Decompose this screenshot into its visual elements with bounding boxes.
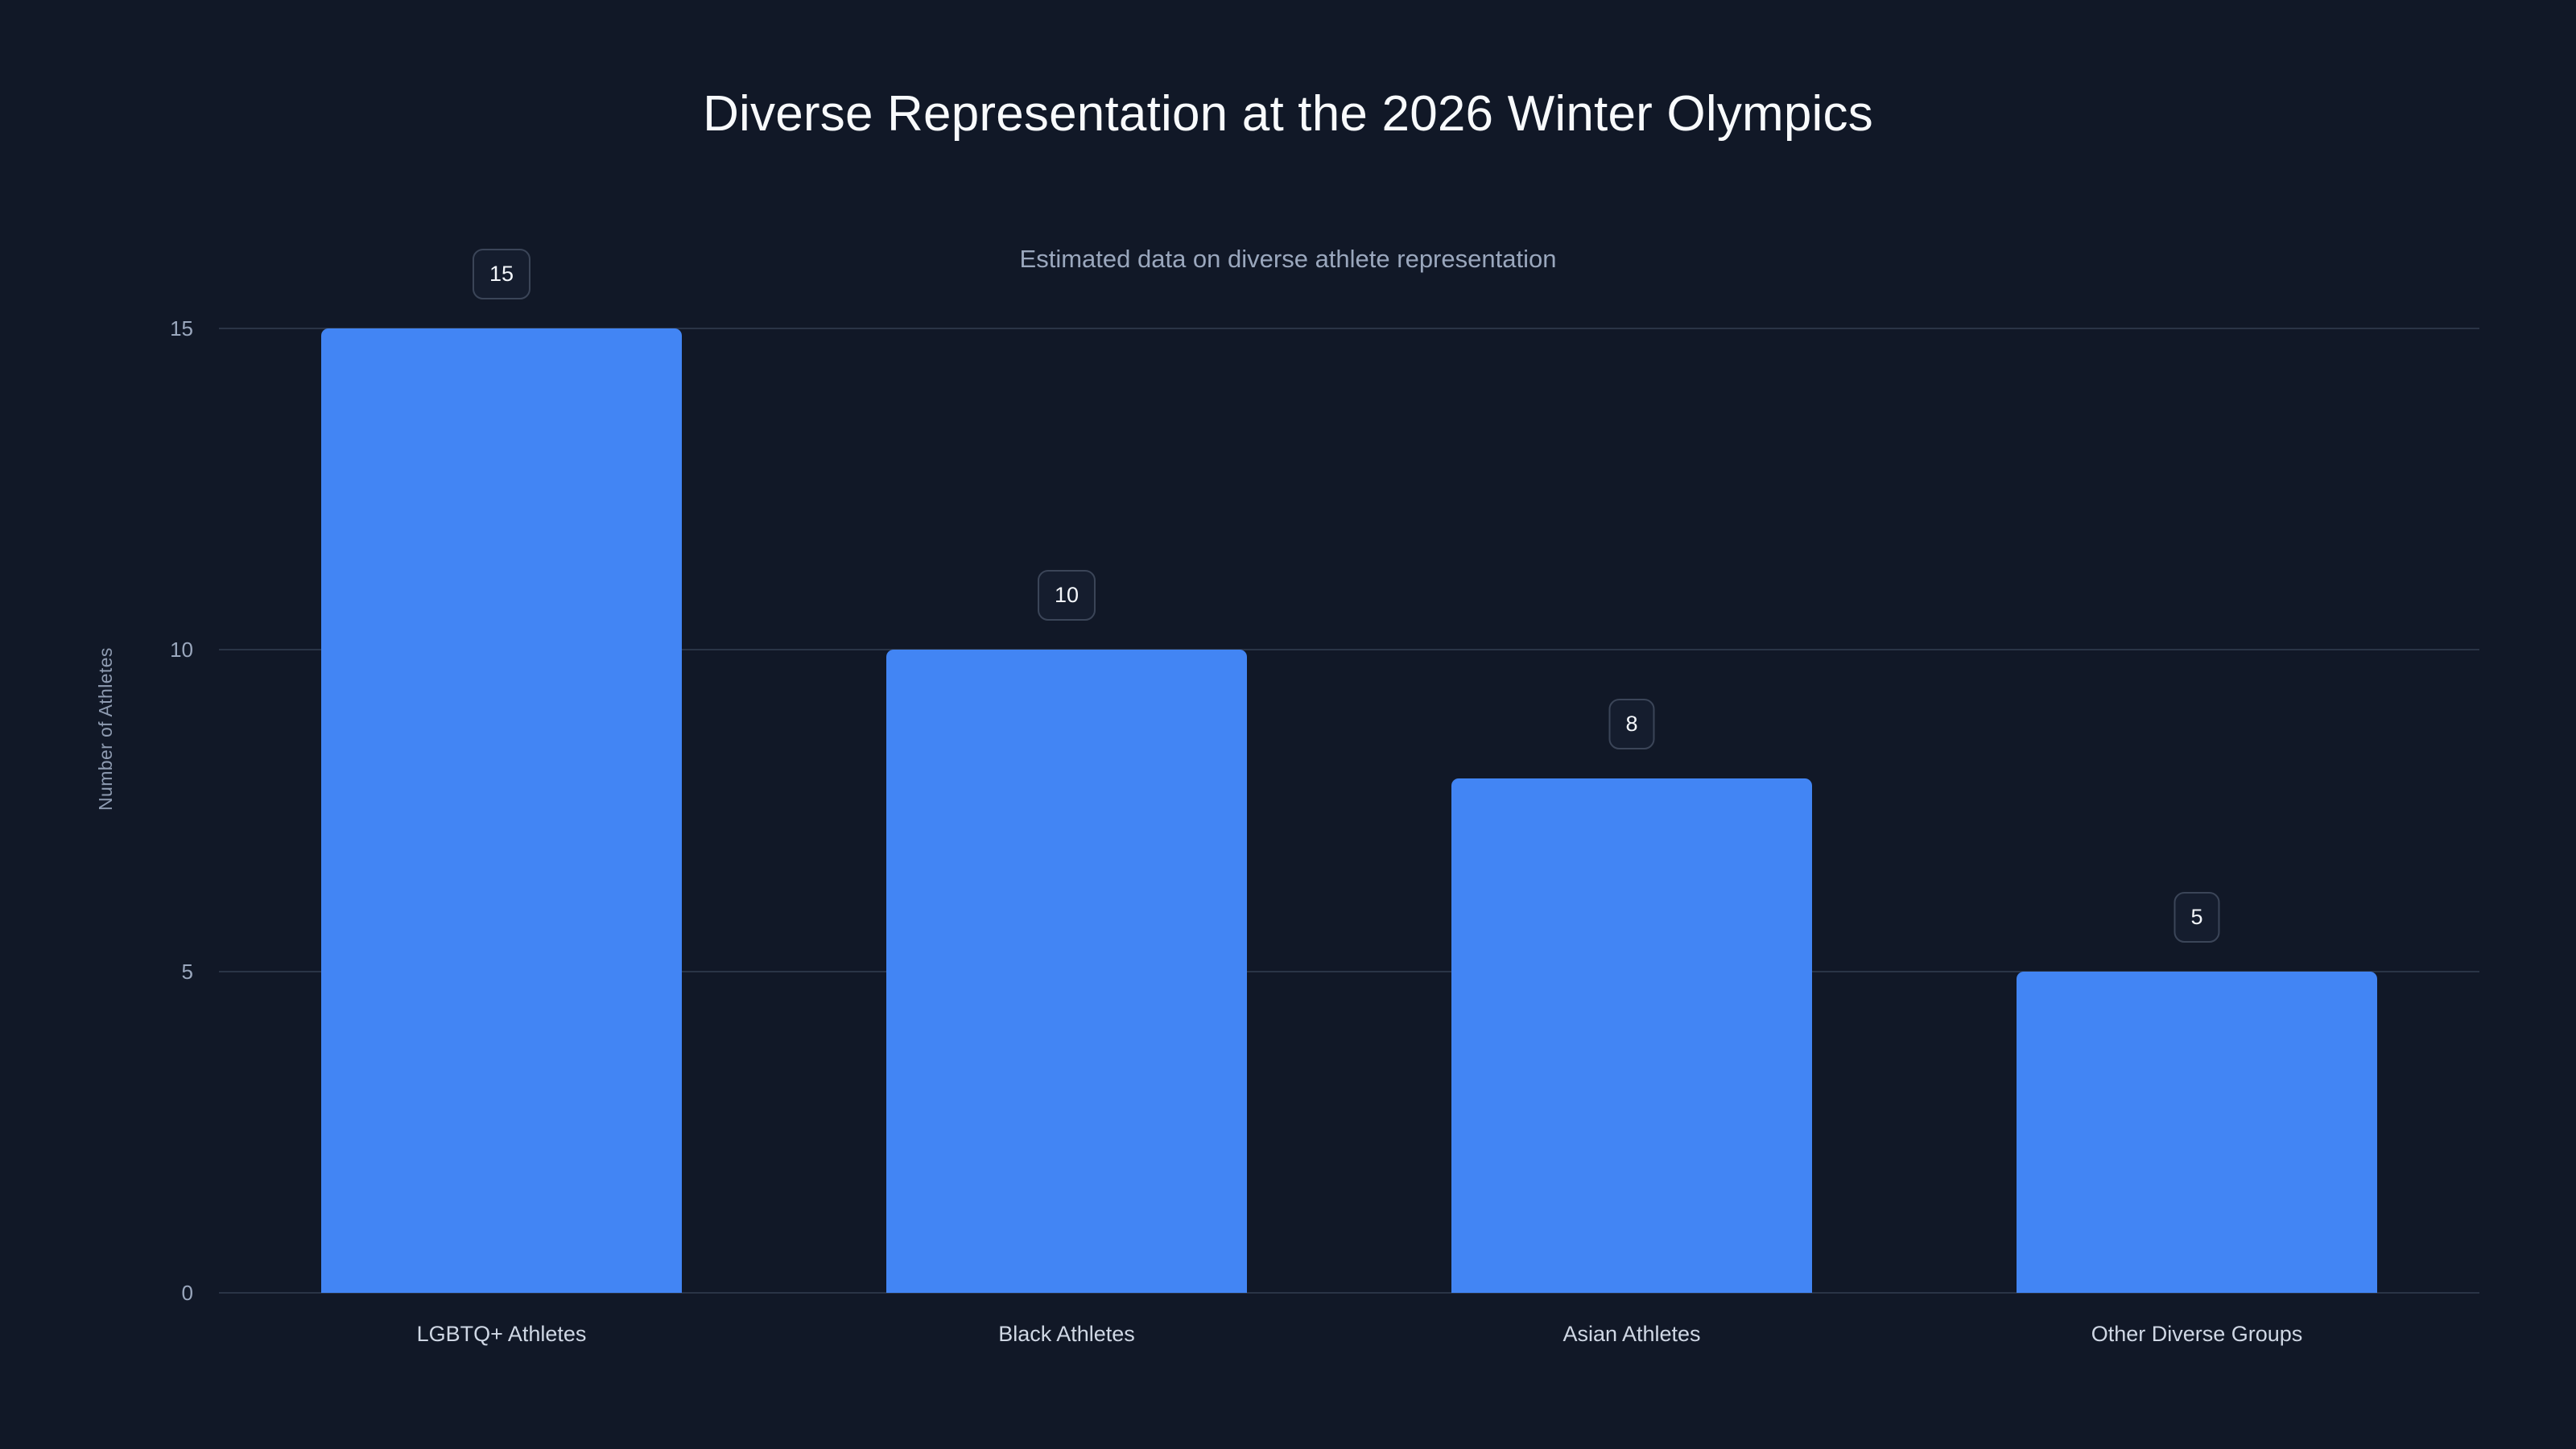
y-axis-tick-label: 15 — [48, 318, 193, 339]
chart-subtitle: Estimated data on diverse athlete repres… — [0, 246, 2576, 273]
y-axis-title: Number of Athletes — [95, 647, 117, 811]
chart-title: Diverse Representation at the 2026 Winte… — [0, 87, 2576, 142]
bar[interactable] — [321, 328, 682, 1293]
bar[interactable] — [886, 650, 1247, 1293]
bar-value-label: 5 — [2173, 892, 2219, 943]
bar-group: 10Black Athletes — [886, 328, 1247, 1293]
bar-group: 5Other Diverse Groups — [2017, 328, 2377, 1293]
bar-group: 8Asian Athletes — [1451, 328, 1812, 1293]
bar[interactable] — [1451, 778, 1812, 1293]
x-axis-category-label: Asian Athletes — [1563, 1323, 1700, 1345]
plot-area: 15LGBTQ+ Athletes10Black Athletes8Asian … — [219, 328, 2479, 1293]
x-axis-category-label: Black Athletes — [998, 1323, 1135, 1345]
bar-value-label: 15 — [473, 249, 530, 299]
y-axis-tick-label: 0 — [48, 1282, 193, 1303]
bar-value-label: 10 — [1038, 570, 1096, 621]
bar-group: 15LGBTQ+ Athletes — [321, 328, 682, 1293]
x-axis-category-label: Other Diverse Groups — [2091, 1323, 2303, 1345]
bar-chart: Diverse Representation at the 2026 Winte… — [0, 0, 2576, 1449]
y-axis-tick-label: 5 — [48, 961, 193, 982]
y-axis-tick-label: 10 — [48, 639, 193, 660]
bar[interactable] — [2017, 972, 2377, 1293]
x-axis-category-label: LGBTQ+ Athletes — [417, 1323, 587, 1345]
bar-value-label: 8 — [1608, 699, 1654, 749]
